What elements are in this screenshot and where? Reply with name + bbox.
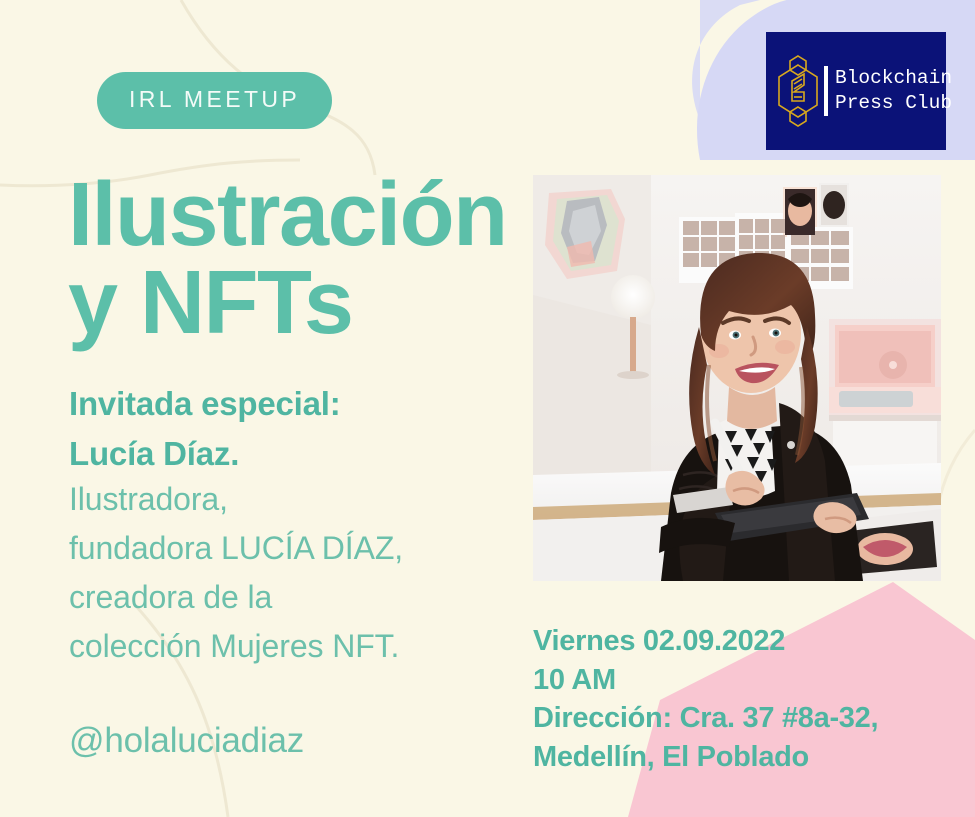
- lavender-shape-tail: [692, 0, 760, 120]
- instagram-handle: @holaluciadiaz: [69, 721, 304, 761]
- logo-wordmark: Blockchain Press Club: [835, 66, 952, 115]
- event-time: 10 AM: [533, 661, 953, 700]
- headline-line-1: Ilustración: [68, 171, 538, 259]
- logo-line-1: Blockchain: [835, 66, 952, 91]
- guest-heading: Invitada especial: Lucía Díaz.: [69, 379, 529, 479]
- guest-name: Lucía Díaz.: [69, 429, 529, 479]
- event-details: Viernes 02.09.2022 10 AM Dirección: Cra.…: [533, 622, 953, 776]
- guest-desc-line-4: colección Mujeres NFT.: [69, 622, 539, 671]
- guest-desc-line-2: fundadora LUCÍA DÍAZ,: [69, 524, 539, 573]
- guest-description: Ilustradora, fundadora LUCÍA DÍAZ, cread…: [69, 475, 539, 671]
- hexagon-blockchain-emblem-icon: [776, 52, 820, 130]
- event-address-line-2: Medellín, El Poblado: [533, 738, 953, 777]
- event-address-line-1: Dirección: Cra. 37 #8a-32,: [533, 699, 953, 738]
- guest-desc-line-3: creadora de la: [69, 573, 539, 622]
- logo-divider: [824, 66, 828, 116]
- irl-meetup-badge: IRL MEETUP: [97, 72, 332, 129]
- guest-intro: Invitada especial:: [69, 379, 529, 429]
- guest-desc-line-1: Ilustradora,: [69, 475, 539, 524]
- speaker-photo: [533, 175, 941, 581]
- headline-line-2: y NFTs: [68, 259, 538, 347]
- event-date: Viernes 02.09.2022: [533, 622, 953, 661]
- poster-headline: Ilustración y NFTs: [68, 171, 538, 347]
- blockchain-press-club-logo: Blockchain Press Club: [766, 32, 946, 150]
- logo-line-2: Press Club: [835, 91, 952, 116]
- event-poster: IRL MEETUP Blockchain Press Club: [0, 0, 975, 817]
